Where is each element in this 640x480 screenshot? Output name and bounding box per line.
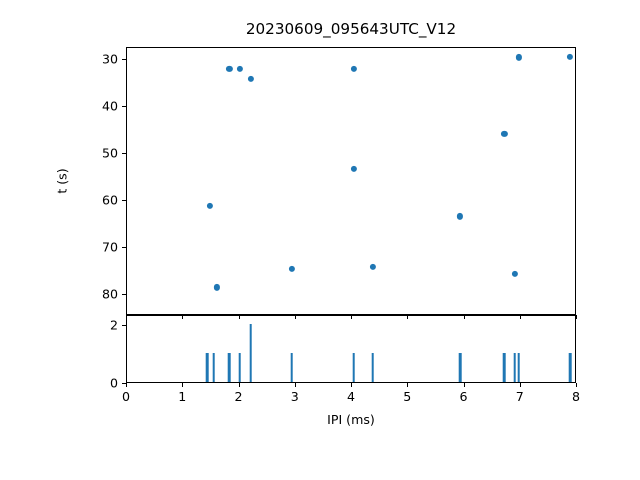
histogram-bar [206,353,209,382]
hist-x-tick-mark [295,383,296,387]
matplotlib-figure: 20230609_095643UTC_V12 304050607080 t (s… [0,0,640,480]
scatter-point [289,266,295,272]
x-tick-mark [576,315,577,319]
histogram-bar [569,353,572,382]
hist-x-tick-label: 3 [291,389,299,404]
scatter-plot-axes [126,47,576,315]
histogram-bar [517,353,520,382]
scatter-point [501,131,507,137]
histogram-bars-layer [127,316,575,382]
histogram-axes [126,315,576,383]
y-axis-label: t (s) [55,168,70,193]
histogram-bar [291,353,294,382]
hist-x-tick-mark [576,383,577,387]
y-tick-mark [122,247,126,248]
x-axis-label: IPI (ms) [327,412,375,427]
y-tick-label: 80 [76,286,118,301]
hist-x-tick-mark [239,383,240,387]
y-tick-mark [122,59,126,60]
y-tick-mark [122,200,126,201]
hist-x-tick-label: 6 [459,389,467,404]
y-tick-mark [122,294,126,295]
y-tick-mark [122,153,126,154]
scatter-point [511,271,517,277]
hist-x-tick-mark [464,383,465,387]
hist-x-tick-mark [126,383,127,387]
histogram-bar [503,353,506,382]
histogram-bar [372,353,375,382]
hist-y-tick-label: 2 [76,318,118,333]
histogram-bar [228,353,231,382]
hist-x-tick-label: 2 [234,389,242,404]
histogram-bar [513,353,516,382]
y-tick-label: 30 [76,51,118,66]
hist-x-tick-label: 5 [403,389,411,404]
scatter-point [351,166,357,172]
histogram-bar [352,353,355,382]
scatter-point [214,284,220,290]
hist-y-tick-mark [122,325,126,326]
y-tick-label: 50 [76,145,118,160]
hist-x-tick-mark [407,383,408,387]
hist-x-tick-label: 4 [347,389,355,404]
histogram-bar [212,353,215,382]
hist-x-tick-label: 0 [122,389,130,404]
hist-x-tick-label: 8 [572,389,580,404]
hist-x-tick-mark [351,383,352,387]
scatter-point [515,54,521,60]
histogram-bar [459,353,462,382]
figure-title: 20230609_095643UTC_V12 [126,20,576,38]
y-tick-label: 60 [76,192,118,207]
hist-x-tick-label: 7 [516,389,524,404]
scatter-point [351,66,357,72]
scatter-point [457,213,463,219]
scatter-point [248,75,254,81]
y-tick-label: 70 [76,239,118,254]
histogram-bar [238,353,241,382]
hist-x-tick-mark [520,383,521,387]
histogram-bar [249,324,252,382]
scatter-point [370,264,376,270]
scatter-points-layer [127,48,575,314]
scatter-point [207,202,213,208]
hist-x-tick-label: 1 [178,389,186,404]
scatter-point [567,54,573,60]
y-tick-mark [122,106,126,107]
y-tick-label: 40 [76,98,118,113]
scatter-point [236,66,242,72]
scatter-point [226,66,232,72]
hist-y-tick-label: 0 [76,376,118,391]
hist-x-tick-mark [182,383,183,387]
